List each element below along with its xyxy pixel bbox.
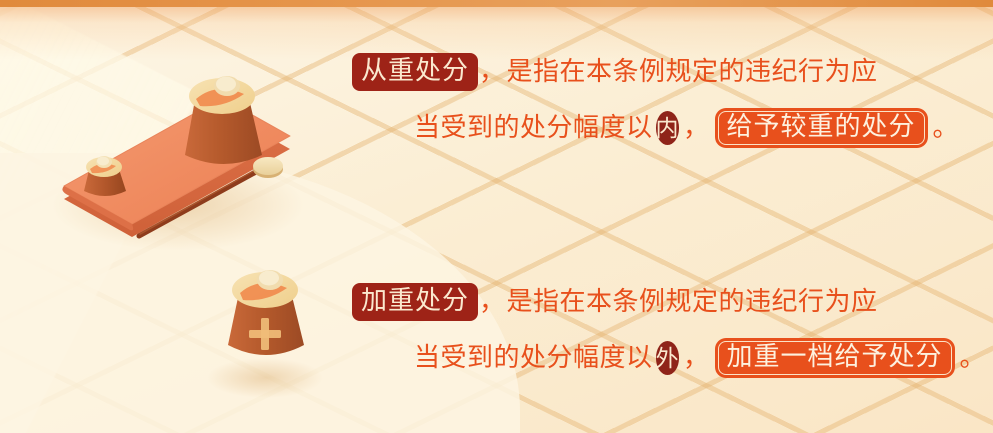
comma-2: ， [682,115,711,141]
period-2: 。 [959,345,988,371]
result-badge-label-2: 加重一档给予处分 [727,342,943,371]
paragraph-congzhong-line-2: 当受到的处分幅度以 内 ， 给予较重的处分 。 [352,100,952,156]
scope-badge-nei[interactable]: 内 [656,111,680,145]
isometric-slider-illustration [0,0,380,420]
scope-badge-wai[interactable]: 外 [656,341,680,375]
loose-weight-with-plus [207,270,323,398]
large-weight-on-track [185,76,262,164]
definition-text-2b: 当受到的处分幅度以 [414,345,653,371]
definition-text-2a: 是指在本条例规定的违纪行为应 [507,289,878,315]
comma-3: ， [478,289,507,315]
result-badge-label-1: 给予较重的处分 [727,112,916,141]
paragraph-congzhong-line-1: 从重处分 ， 是指在本条例规定的违纪行为应 [352,44,952,100]
comma-1: ， [478,59,507,85]
paragraph-congzhong: 从重处分 ， 是指在本条例规定的违纪行为应 当受到的处分幅度以 内 ， 给予较重… [352,44,952,156]
comma-4: ， [682,345,711,371]
result-badge-jiazhongyidangjiyuchufen[interactable]: 加重一档给予处分 [715,338,955,378]
paragraph-jiazhong-line-2: 当受到的处分幅度以 外 ， 加重一档给予处分 。 [352,330,952,386]
term-badge-jiazhongchufen[interactable]: 加重处分 [352,283,478,321]
definition-text-1a: 是指在本条例规定的违纪行为应 [507,59,878,85]
infographic-canvas: 从重处分 ， 是指在本条例规定的违纪行为应 当受到的处分幅度以 内 ， 给予较重… [0,0,993,433]
paragraph-jiazhong: 加重处分 ， 是指在本条例规定的违纪行为应 当受到的处分幅度以 外 ， 加重一档… [352,274,952,386]
definition-text-1b: 当受到的处分幅度以 [414,115,653,141]
definition-text-block: 从重处分 ， 是指在本条例规定的违纪行为应 当受到的处分幅度以 内 ， 给予较重… [352,44,952,386]
slider-thumb-knob [253,157,283,178]
period-1: 。 [932,115,961,141]
term-badge-congzhongchufen[interactable]: 从重处分 [352,53,478,91]
result-badge-jiyujiaozhongdechufen[interactable]: 给予较重的处分 [715,108,928,148]
paragraph-jiazhong-line-1: 加重处分 ， 是指在本条例规定的违纪行为应 [352,274,952,330]
